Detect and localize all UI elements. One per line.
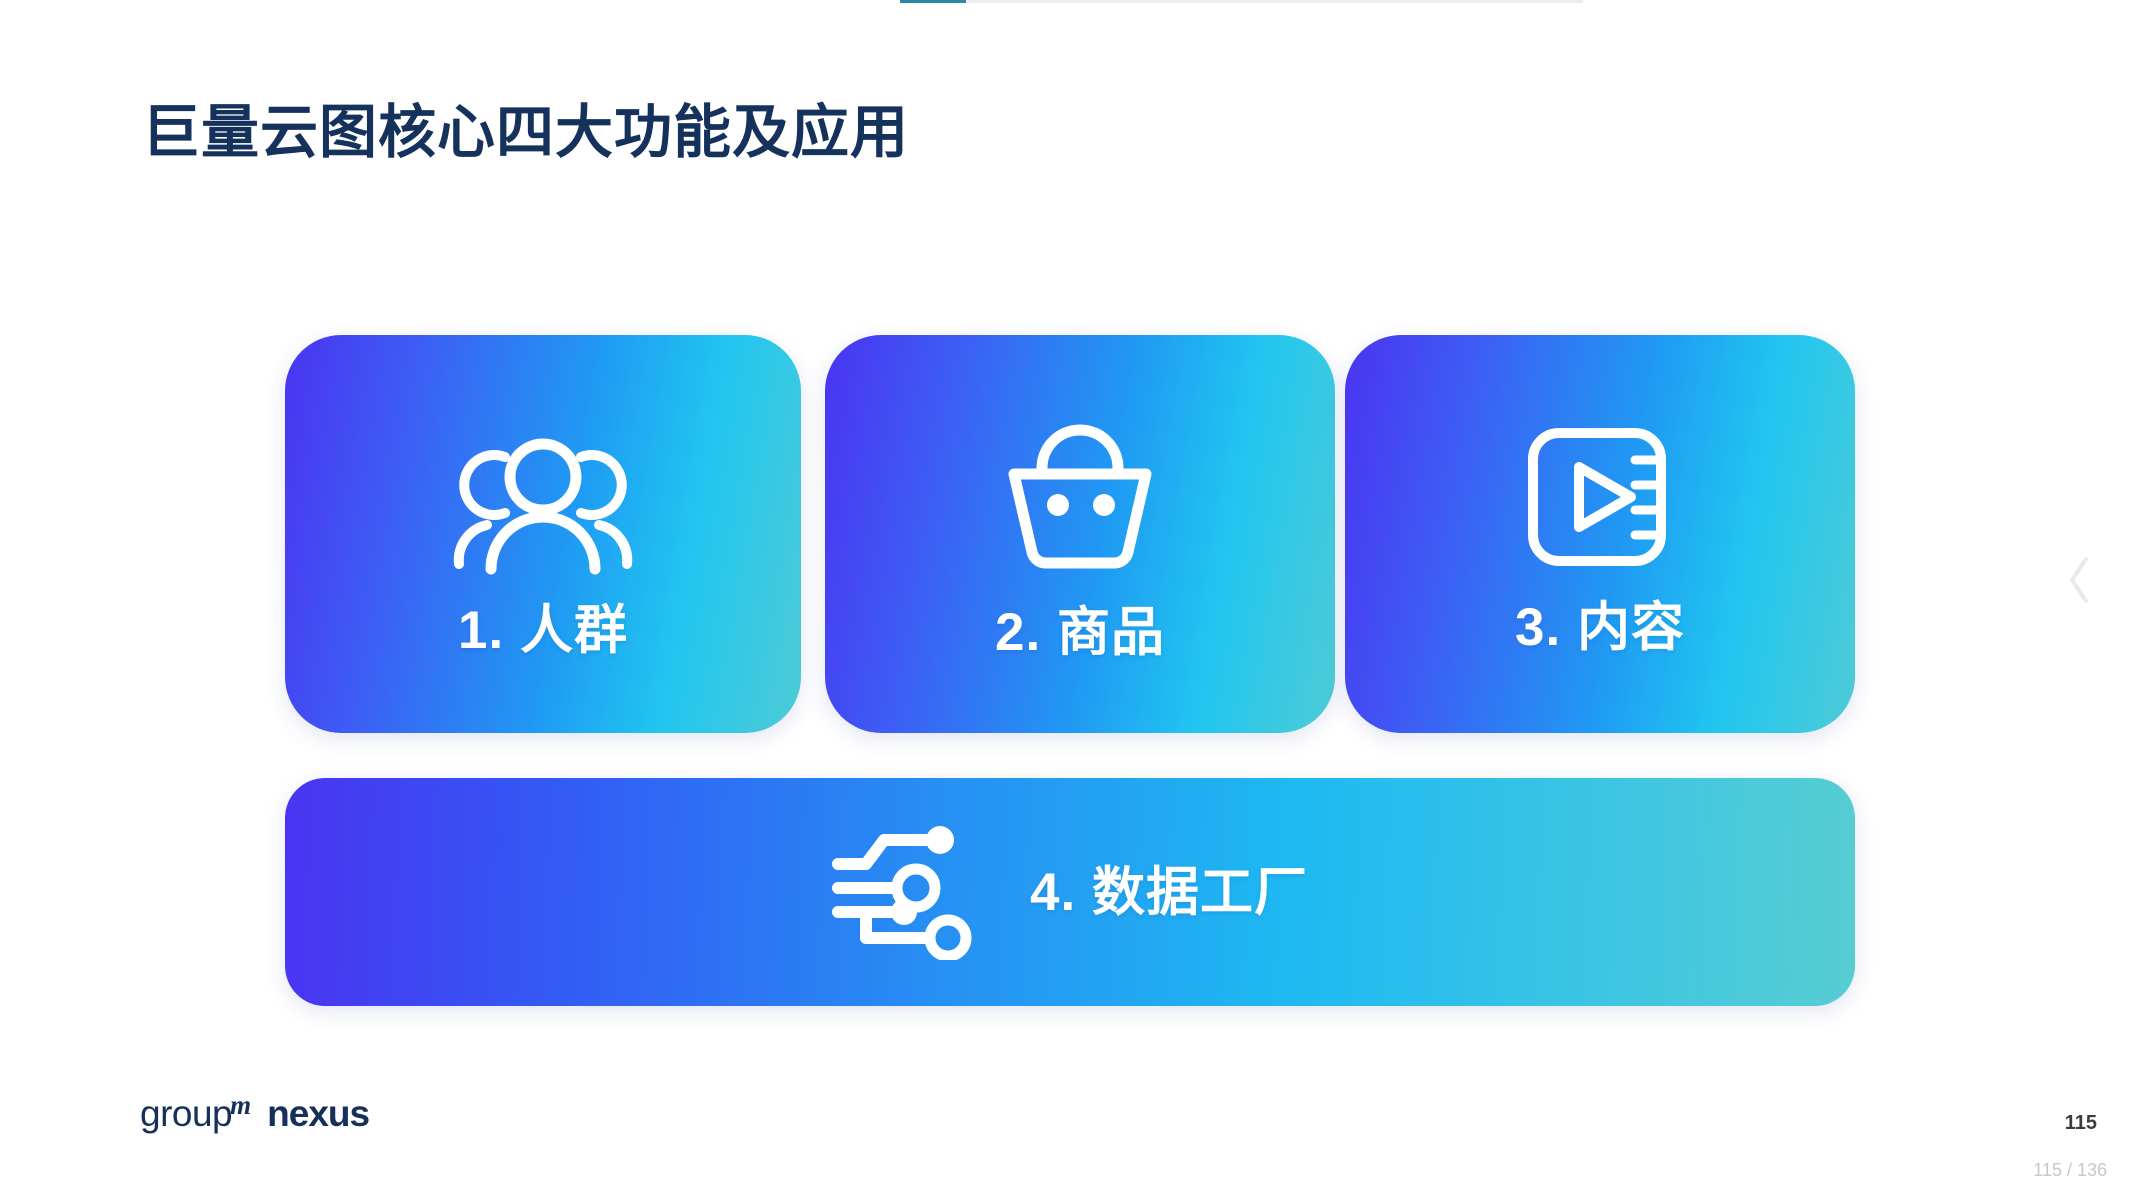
- brand-nexus-text: nexus: [267, 1095, 369, 1132]
- feature-card-label: 3. 内容: [1515, 601, 1685, 654]
- feature-card-label: 4. 数据工厂: [1030, 866, 1308, 919]
- brand-groupm-text: group: [140, 1095, 232, 1132]
- page-counter: 115 / 136: [2033, 1160, 2107, 1181]
- brand-logo: group m nexus: [140, 1095, 369, 1135]
- shopping-basket-icon: [1000, 420, 1160, 580]
- feature-card-content[interactable]: 3. 内容: [1345, 335, 1855, 733]
- feature-card-label: 1. 人群: [458, 604, 628, 657]
- feature-card-label: 2. 商品: [995, 606, 1165, 659]
- slide-progress-track[interactable]: [900, 0, 1583, 3]
- page-title: 巨量云图核心四大功能及应用: [142, 104, 909, 162]
- feature-card-product[interactable]: 2. 商品: [825, 335, 1335, 733]
- slide-progress-fill: [900, 0, 966, 3]
- brand-m-superscript: m: [230, 1090, 251, 1121]
- circuit-nodes-icon: [832, 820, 982, 965]
- chevron-left-icon[interactable]: [2058, 545, 2102, 615]
- video-play-icon: [1525, 425, 1675, 575]
- feature-card-people[interactable]: 1. 人群: [285, 335, 801, 733]
- page-number: 115: [2065, 1112, 2097, 1135]
- feature-card-data-factory[interactable]: 4. 数据工厂: [285, 778, 1855, 1006]
- people-group-icon: [443, 427, 643, 582]
